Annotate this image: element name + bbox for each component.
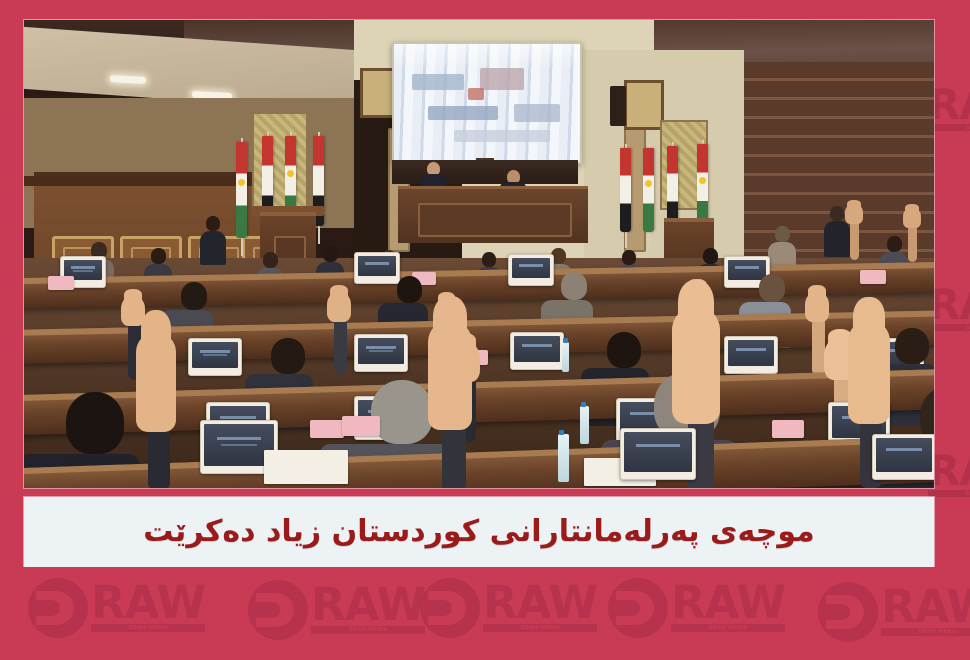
- monitor-screen: [876, 438, 932, 472]
- watermark-subtitle: DRAW MEDIA: [928, 124, 970, 131]
- draw-logo-watermark: RAW DRAW MEDIA: [248, 580, 425, 640]
- desk-monitor: [188, 338, 242, 376]
- person-head: [397, 276, 422, 303]
- monitor-screen: [512, 258, 550, 278]
- desk-monitor: [872, 434, 934, 480]
- raised-hand: [845, 204, 863, 224]
- projection-screen-image: [394, 44, 580, 162]
- draw-circle-d-icon: [608, 578, 668, 638]
- draw-circle-d-icon: [248, 580, 308, 640]
- monitor-text: [203, 354, 227, 356]
- person-head: [887, 236, 902, 252]
- monitor-screen: [624, 432, 692, 472]
- monitor-text: [736, 348, 765, 351]
- person-head: [775, 226, 790, 242]
- person-head: [323, 246, 338, 262]
- watermark-word: RAW: [928, 80, 970, 129]
- screen-content-block: [428, 106, 498, 120]
- person-head: [759, 274, 785, 302]
- watermark-subtitle: DRAW MEDIA: [928, 324, 970, 331]
- desk-monitor: [620, 428, 696, 480]
- monitor-text: [220, 416, 256, 419]
- watermark-word: RAW: [91, 576, 205, 629]
- desk-papers: [264, 450, 348, 484]
- person-head: [830, 206, 844, 221]
- person-head: [271, 338, 305, 374]
- raised-hand-foreground: [136, 332, 176, 432]
- watermark-word: RAW: [928, 280, 970, 329]
- monitor-text: [71, 266, 95, 269]
- desk-item: [860, 270, 886, 284]
- watermark-word: RAW: [928, 446, 970, 495]
- watermark-strip: RAW DRAW MEDIA RAW DRAW MEDIA RAW DRAW M…: [0, 567, 970, 660]
- person-head: [181, 282, 207, 310]
- projection-screen: [392, 42, 582, 164]
- raised-hand-foreground: [672, 306, 720, 424]
- screen-content-block: [514, 104, 560, 122]
- kurdistan-flag: [643, 148, 654, 232]
- headline-text: موچەی پەرلەمانتارانی کوردستان زیاد دەکرێ…: [143, 515, 814, 550]
- monitor-screen: [358, 256, 396, 276]
- desk-monitor: [724, 336, 778, 374]
- watermark-word: RAW: [483, 576, 597, 629]
- monitor-text: [73, 270, 93, 272]
- watermark-word: RAW: [881, 580, 970, 633]
- monitor-text: [636, 444, 680, 447]
- monitor-text: [217, 437, 262, 440]
- water-bottle: [558, 434, 569, 482]
- monitor-screen: [728, 340, 774, 366]
- person-torso: [824, 221, 850, 257]
- monitor-text: [221, 444, 257, 446]
- person-head: [607, 332, 641, 368]
- person-head: [66, 392, 124, 454]
- person-head: [206, 216, 220, 231]
- water-bottle: [562, 342, 569, 372]
- parliament-member: [200, 216, 226, 265]
- person-head: [561, 272, 587, 300]
- water-bottle: [580, 406, 589, 444]
- desk-item: [342, 416, 380, 436]
- screen-content-block: [412, 74, 464, 90]
- raised-hand: [903, 208, 921, 228]
- watermark-edge: RAW DRAW MEDIA: [928, 286, 970, 331]
- watermark-edge: RAW DRAW MEDIA: [928, 86, 970, 131]
- desk-item: [310, 420, 344, 438]
- parliament-photo: [24, 20, 934, 488]
- raised-hand: [805, 292, 829, 322]
- person-torso: [200, 231, 226, 265]
- draw-logo-watermark: RAW DRAW MEDIA: [28, 578, 205, 638]
- person-head: [151, 248, 166, 264]
- draw-circle-d-icon: [28, 578, 88, 638]
- rostrum-panel: [418, 203, 572, 237]
- monitor-text: [735, 266, 759, 269]
- person-head: [703, 248, 718, 264]
- draw-logo-watermark: RAW DRAW MEDIA: [420, 578, 597, 638]
- desk-monitor: [508, 254, 554, 286]
- monitor-text: [522, 344, 551, 347]
- wall-picture-frame: [624, 80, 664, 130]
- raised-hand-foreground: [428, 320, 472, 430]
- news-card: RAW DRAW MEDIA RAW DRAW MEDIA RAW DRAW M…: [0, 0, 970, 660]
- monitor-text: [366, 346, 395, 349]
- monitor-screen: [358, 338, 404, 364]
- person-head: [371, 380, 433, 444]
- person-head: [482, 252, 496, 267]
- monitor-screen: [514, 336, 560, 362]
- kurdistan-flag: [236, 142, 247, 238]
- tapestry-left: [252, 112, 308, 212]
- speaker-rostrum: [398, 186, 588, 243]
- draw-circle-d-icon: [420, 578, 480, 638]
- screen-content-block: [468, 88, 484, 100]
- monitor-text: [369, 350, 393, 352]
- screen-content-block: [454, 130, 550, 142]
- wall-speaker: [610, 86, 626, 126]
- screen-content-block: [480, 68, 524, 90]
- desk-item: [48, 276, 74, 290]
- draw-logo-watermark: RAW DRAW MEDIA: [608, 578, 785, 638]
- draw-circle-d-icon: [818, 582, 878, 642]
- monitor-text: [200, 350, 229, 353]
- person-head: [622, 250, 636, 265]
- draw-logo-watermark: RAW DRAW MEDIA: [818, 582, 970, 642]
- person-head: [895, 328, 929, 364]
- headline-band: موچەی پەرلەمانتارانی کوردستان زیاد دەکرێ…: [24, 497, 934, 567]
- watermark-word: RAW: [311, 578, 425, 631]
- monitor-text: [365, 262, 389, 265]
- desk-item: [772, 420, 804, 438]
- raised-hand: [327, 292, 351, 322]
- monitor-text: [886, 448, 922, 451]
- watermark-word: RAW: [671, 576, 785, 629]
- iraq-flag: [620, 148, 631, 232]
- monitor-text: [519, 264, 543, 267]
- raised-arm-sleeve: [334, 316, 347, 374]
- raised-hand-foreground: [848, 320, 890, 424]
- person-head: [263, 252, 278, 268]
- watermark-edge: RAW DRAW MEDIA: [928, 452, 970, 497]
- watermark-subtitle: DRAW MEDIA: [928, 490, 970, 497]
- desk-monitor: [354, 334, 408, 372]
- desk-monitor: [510, 332, 564, 370]
- monitor-screen: [192, 342, 238, 368]
